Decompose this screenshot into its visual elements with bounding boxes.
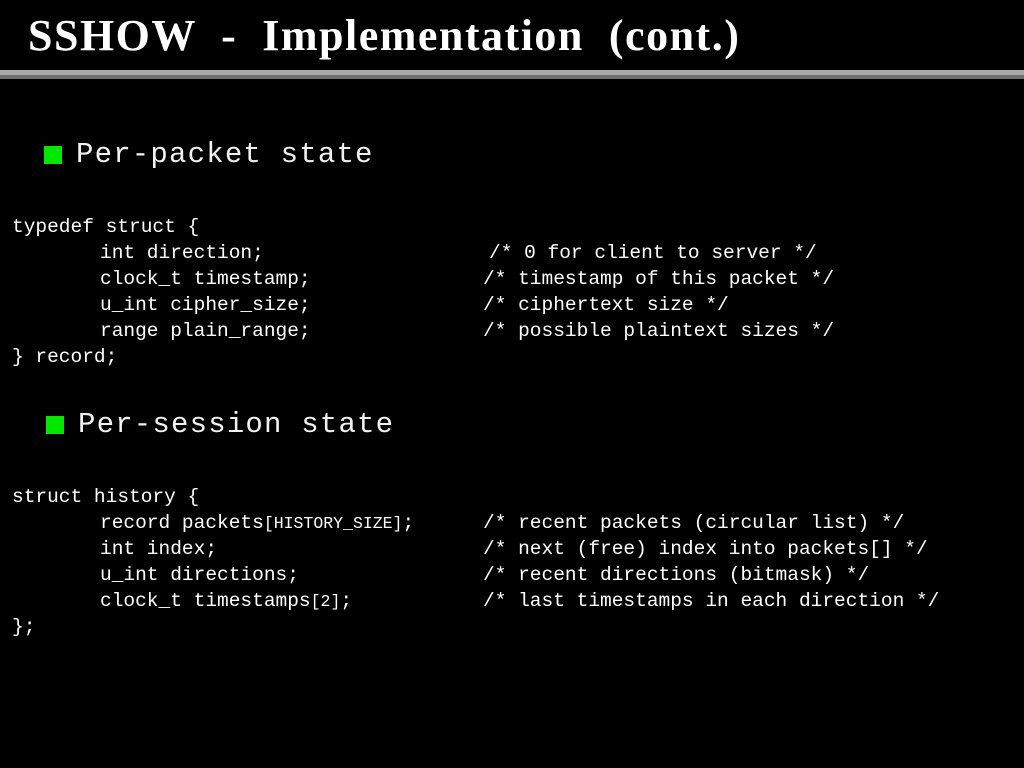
section-heading-label: Per-session state xyxy=(78,409,394,441)
code-declaration-text: clock_t timestamps xyxy=(100,590,311,612)
code-declaration: clock_t timestamps[2]; xyxy=(100,588,352,615)
code-declaration: struct history { xyxy=(12,484,199,510)
code-declaration-text: u_int directions; xyxy=(100,564,299,586)
code-comment: /* last timestamps in each direction */ xyxy=(483,588,939,614)
code-declaration-text: u_int cipher_size; xyxy=(100,294,311,316)
code-declaration-text: int index; xyxy=(100,538,217,560)
code-comment: /* ciphertext size */ xyxy=(483,292,729,318)
code-declaration-text: clock_t timestamp; xyxy=(100,268,311,290)
separator-dark-band xyxy=(0,75,1024,79)
code-line: }; xyxy=(0,614,1024,640)
code-array-subscript: [2] xyxy=(311,592,341,611)
code-comment: /* possible plaintext sizes */ xyxy=(483,318,834,344)
code-declaration: int direction; xyxy=(100,240,264,266)
code-declaration: }; xyxy=(12,614,35,640)
title-separator xyxy=(0,70,1024,79)
code-declaration-text: } record; xyxy=(12,346,117,368)
slide-title-bar: SSHOW - Implementation (cont.) xyxy=(0,0,1024,70)
code-declaration: typedef struct { xyxy=(12,214,199,240)
code-line: record packets[HISTORY_SIZE];/* recent p… xyxy=(0,510,1024,536)
code-line: u_int cipher_size;/* ciphertext size */ xyxy=(0,292,1024,318)
code-line: int index;/* next (free) index into pack… xyxy=(0,536,1024,562)
code-declaration: record packets[HISTORY_SIZE]; xyxy=(100,510,414,537)
code-declaration: } record; xyxy=(12,344,117,370)
code-comment: /* 0 for client to server */ xyxy=(489,240,817,266)
code-line: typedef struct { xyxy=(0,214,1024,240)
green-square-bullet-icon xyxy=(46,416,64,434)
code-line: clock_t timestamp;/* timestamp of this p… xyxy=(0,266,1024,292)
code-declaration-tail: ; xyxy=(340,590,352,612)
green-square-bullet-icon xyxy=(44,146,62,164)
code-declaration-text: int direction; xyxy=(100,242,264,264)
page-title: SSHOW - Implementation (cont.) xyxy=(28,9,740,63)
code-array-subscript: [HISTORY_SIZE] xyxy=(264,514,403,533)
code-declaration-text: }; xyxy=(12,616,35,638)
section-heading-per-session-state: Per-session state xyxy=(46,409,394,441)
code-line: int direction;/* 0 for client to server … xyxy=(0,240,1024,266)
code-comment: /* next (free) index into packets[] */ xyxy=(483,536,928,562)
code-block-per-session-state: struct history {record packets[HISTORY_S… xyxy=(0,484,1024,640)
code-declaration-text: range plain_range; xyxy=(100,320,311,342)
code-declaration-tail: ; xyxy=(402,512,414,534)
code-line: range plain_range;/* possible plaintext … xyxy=(0,318,1024,344)
code-line: u_int directions;/* recent directions (b… xyxy=(0,562,1024,588)
code-declaration: range plain_range; xyxy=(100,318,311,344)
code-line: clock_t timestamps[2];/* last timestamps… xyxy=(0,588,1024,614)
code-declaration: int index; xyxy=(100,536,217,562)
code-comment: /* timestamp of this packet */ xyxy=(483,266,834,292)
code-declaration: u_int directions; xyxy=(100,562,299,588)
code-declaration-text: record packets xyxy=(100,512,264,534)
code-block-per-packet-state: typedef struct {int direction;/* 0 for c… xyxy=(0,214,1024,370)
section-heading-label: Per-packet state xyxy=(76,139,374,171)
section-heading-per-packet-state: Per-packet state xyxy=(44,139,374,171)
code-comment: /* recent directions (bitmask) */ xyxy=(483,562,869,588)
presentation-slide: SSHOW - Implementation (cont.) Per-packe… xyxy=(0,0,1024,768)
code-declaration-text: typedef struct { xyxy=(12,216,199,238)
code-declaration: u_int cipher_size; xyxy=(100,292,311,318)
code-comment: /* recent packets (circular list) */ xyxy=(483,510,904,536)
code-line: } record; xyxy=(0,344,1024,370)
code-declaration: clock_t timestamp; xyxy=(100,266,311,292)
code-line: struct history { xyxy=(0,484,1024,510)
code-declaration-text: struct history { xyxy=(12,486,199,508)
